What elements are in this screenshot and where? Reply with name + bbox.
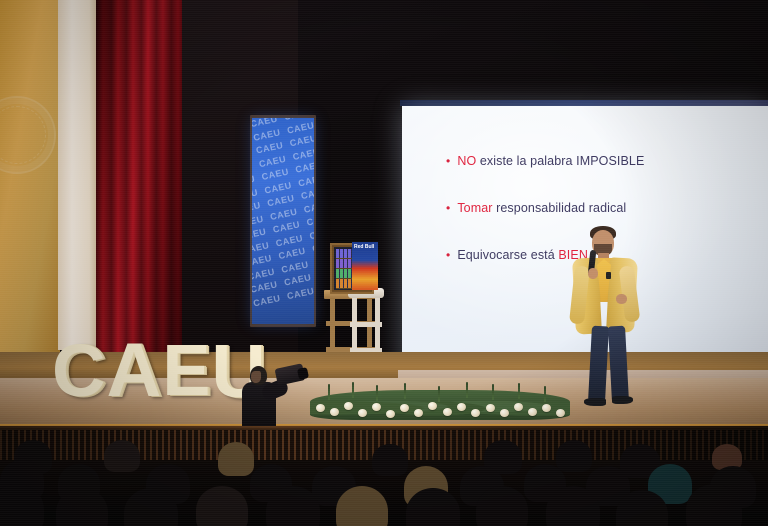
stage-letter-a: A (106, 340, 159, 402)
speaker-shoe-right (612, 396, 633, 404)
stage-letter-e: E (162, 340, 208, 402)
audience-head (336, 486, 388, 526)
caeu-stage-letters: C A E U (52, 332, 264, 402)
flower-bloom (514, 403, 523, 411)
audience-head (476, 486, 528, 526)
energy-drink-poster: Red Bull (352, 242, 378, 290)
side-wall-yellow (0, 0, 60, 352)
speaker-shoe-left (584, 398, 606, 406)
bullet-2-highlight: Tomar (457, 201, 492, 215)
auditorium-stage-photo: CAEU CAEU CAEU CAEU CAEU CAEU CAEU CAEU … (0, 0, 768, 526)
banner-repeated-text: CAEU CAEU CAEU CAEU CAEU CAEU CAEU CAEU … (252, 118, 314, 310)
audience-head (196, 486, 248, 526)
bullet-dot-icon: • (446, 154, 450, 169)
audience-head (56, 488, 108, 526)
flower-bloom (344, 402, 353, 410)
flower-bloom (400, 404, 409, 412)
bullet-1-rest: existe la palabra IMPOSIBLE (476, 154, 644, 168)
red-stage-curtain (96, 0, 182, 356)
audience-head (104, 440, 140, 472)
caeu-vertical-banner: CAEU CAEU CAEU CAEU CAEU CAEU CAEU CAEU … (252, 118, 314, 324)
flower-bloom (316, 404, 325, 412)
speaker-leg-right (608, 326, 629, 403)
flower-bloom (330, 408, 339, 416)
flower-bloom (556, 409, 565, 417)
flower-bloom (500, 409, 509, 417)
flower-bloom (486, 404, 495, 412)
floral-spike (404, 383, 406, 399)
floral-spike (518, 383, 520, 399)
floral-spike (466, 382, 468, 398)
flower-bloom (443, 408, 452, 416)
bullet-3-pre: Equivocarse está (457, 248, 558, 262)
floral-spike (376, 385, 378, 401)
audience-head (372, 444, 408, 476)
bullet-2-rest: responsabilidad radical (493, 201, 627, 215)
flower-bloom (471, 409, 480, 417)
pilaster-column (58, 0, 98, 350)
speaker-leg-left (588, 326, 609, 403)
flower-bloom (372, 403, 381, 411)
speaker-hand-right (616, 294, 627, 304)
bullet-dot-icon: • (446, 201, 450, 216)
flower-bloom (358, 409, 367, 417)
wall-emblem-icon (0, 96, 56, 174)
floral-arrangement (310, 382, 570, 422)
audience-head (218, 442, 254, 476)
flower-bloom (542, 404, 551, 412)
floral-spike (438, 386, 440, 402)
audience-head (406, 488, 460, 526)
flower-bloom (386, 410, 395, 418)
flower-bloom (414, 409, 423, 417)
bullet-1-highlight: NO (457, 154, 476, 168)
flower-bloom (428, 402, 437, 410)
audience-head (556, 440, 592, 472)
keynote-speaker (566, 222, 658, 412)
speaker-pocket-detail (606, 272, 611, 279)
audience-area (0, 426, 768, 526)
flower-bloom (457, 403, 466, 411)
bullet-dot-icon: • (446, 248, 450, 263)
floral-spike (352, 382, 354, 398)
slide-bullet-2: • Tomar responsabilidad radical (446, 201, 746, 216)
camera-lens-icon (297, 367, 309, 380)
floral-spike (544, 386, 546, 402)
speaker-hand-left (588, 268, 598, 279)
stage-letter-c: C (52, 340, 103, 402)
camera-operator-face (251, 371, 261, 383)
camera-operator (240, 362, 306, 434)
floral-spike (328, 384, 330, 400)
poster-brand-label: Red Bull (354, 244, 374, 250)
slide-bullet-1: • NO existe la palabra IMPOSIBLE (446, 154, 746, 169)
floral-spike (492, 384, 494, 400)
flower-bloom (528, 408, 537, 416)
